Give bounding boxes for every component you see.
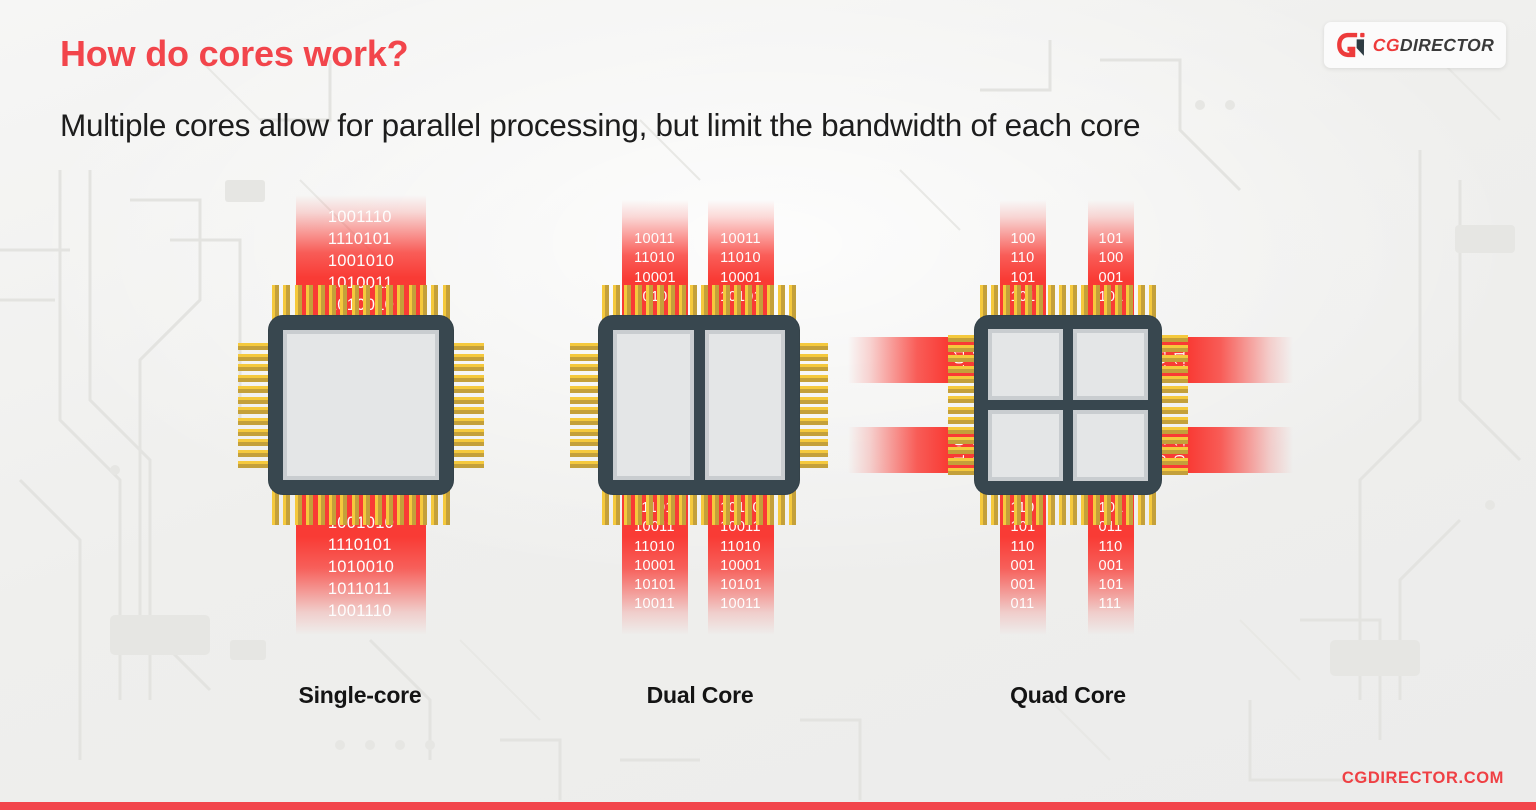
chip-group-dual-core: 10011 11010 10001 10101 10011 11010 1000… [580,195,820,715]
cpu-core [1073,410,1148,481]
chip-label-quad-core: Quad Core [1010,682,1126,709]
stream-single-bottom-bits: 1001010 1110101 1010010 1011011 1001110 [328,513,394,623]
infographic-canvas: How do cores work? Multiple cores allow … [0,0,1536,810]
cpu-core [988,329,1063,400]
chip-group-single-core: 1001110 1110101 1001010 1010011 1010010 [240,195,480,715]
chip-pin [443,489,450,525]
page-subtitle: Multiple cores allow for parallel proces… [60,107,1140,144]
logo-text-cg: CG [1373,35,1400,55]
chip-quad-core[interactable] [974,315,1162,495]
cgdirector-logo-mark [1336,32,1366,58]
logo-wordmark: CGDIRECTOR [1373,35,1495,56]
die-area-single [283,330,439,480]
cpu-core [613,330,694,480]
cpu-core [283,330,439,480]
chip-group-quad-core: 100 110 101 101 101 100 001 101 101 100 … [840,195,1290,715]
footer-accent-bar [0,802,1536,810]
cpu-core [988,410,1063,481]
cpu-core [705,330,786,480]
cgdirector-logo[interactable]: CGDIRECTOR [1324,22,1506,68]
chip-dual-core[interactable] [598,315,800,495]
cpu-core [1073,329,1148,400]
chip-single-core[interactable] [268,315,454,495]
page-title: How do cores work? [60,33,408,75]
chip-label-dual-core: Dual Core [647,682,754,709]
die-area-dual [613,330,785,480]
chip-label-single-core: Single-core [298,682,421,709]
logo-text-director: DIRECTOR [1400,35,1494,55]
chip-pin [789,489,796,525]
footer-url[interactable]: CGDIRECTOR.COM [1342,769,1504,788]
die-area-quad [988,329,1148,481]
